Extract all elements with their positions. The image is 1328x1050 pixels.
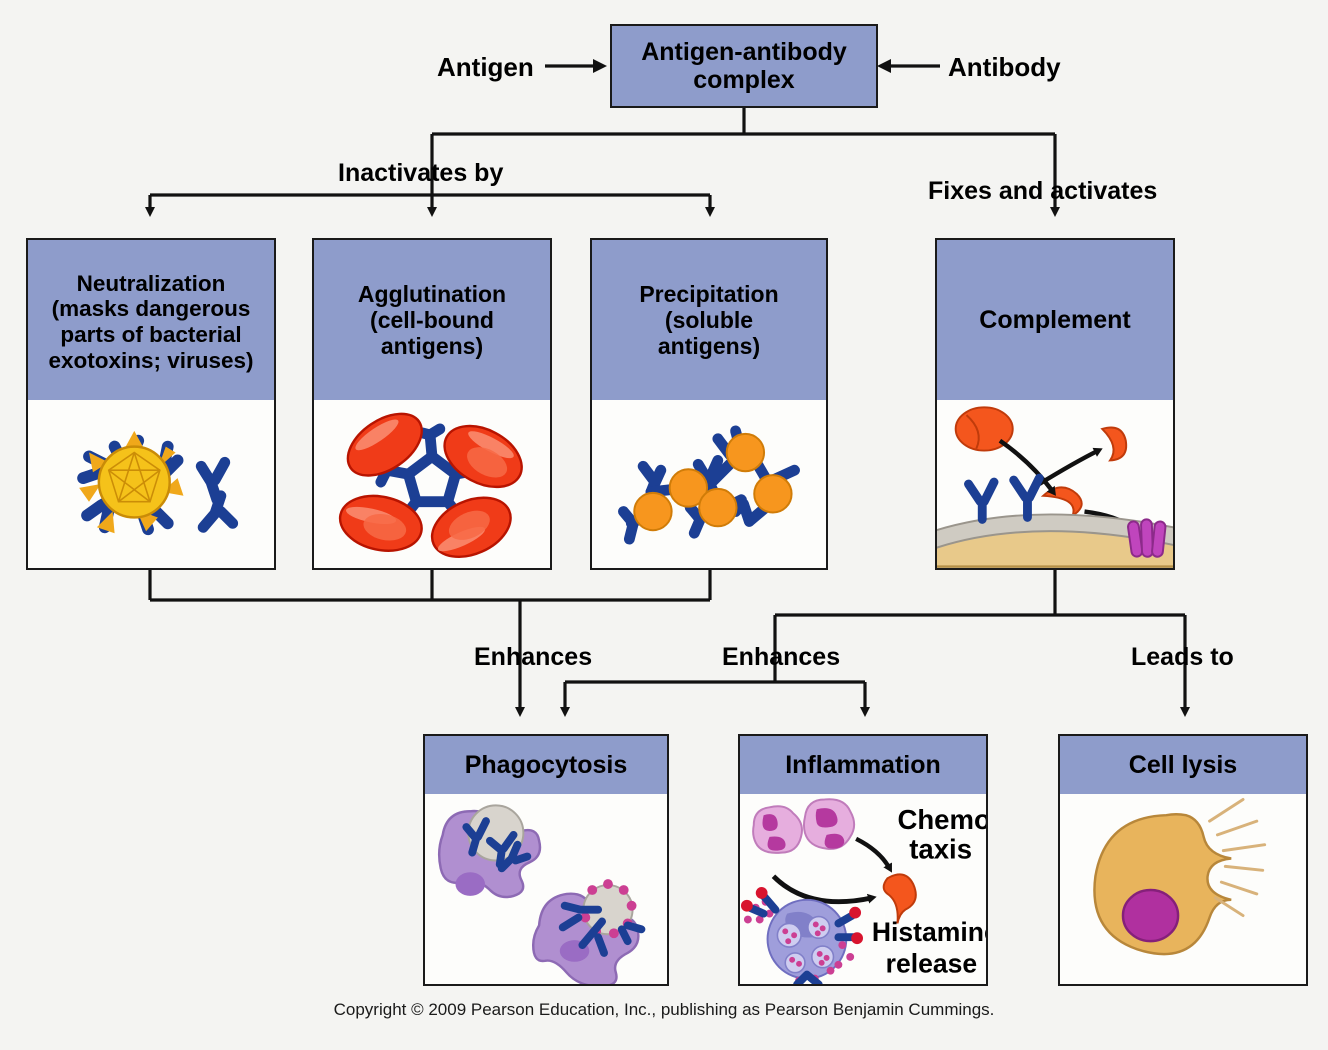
agglutination-box[interactable]: Agglutination (cell-bound antigens) (312, 238, 552, 570)
complement-activation-membrane-attack-icon (937, 400, 1173, 568)
enhances-left-label: Enhances (474, 643, 592, 672)
complement-illustration (937, 400, 1173, 568)
antigen-antibody-lattice-icon (592, 400, 826, 568)
enhances-right-label: Enhances (722, 643, 840, 672)
diagram-canvas: Antigen Antibody Antigen-antibody comple… (0, 0, 1328, 1050)
leads-to-label: Leads to (1131, 643, 1234, 672)
phagocytosis-title: Phagocytosis (425, 736, 667, 794)
fixes-and-activates-label: Fixes and activates (928, 177, 1157, 206)
title-line-1: Neutralization (77, 271, 226, 297)
title-line-1: Precipitation (639, 281, 778, 307)
complement-title: Complement (937, 240, 1173, 400)
title-line-1: Agglutination (358, 281, 506, 307)
precipitation-box[interactable]: Precipitation (soluble antigens) (590, 238, 828, 570)
mast-cell-histamine-chemotaxis-icon: Chemo- taxis Histamine release (740, 794, 986, 984)
copyright-notice: Copyright © 2009 Pearson Education, Inc.… (0, 1000, 1328, 1020)
inflammation-title: Inflammation (740, 736, 986, 794)
histamine-label-line2: release (886, 949, 978, 979)
title-line-2: (soluble (665, 307, 753, 333)
title-line-1: Complement (979, 306, 1130, 335)
title-line-2: (cell-bound (370, 307, 494, 333)
phagocytosis-box[interactable]: Phagocytosis (423, 734, 669, 986)
phagocytosis-illustration (425, 794, 667, 984)
title-line-2: complex (693, 66, 794, 95)
title-line-3: parts of bacterial (60, 322, 241, 348)
title-line-4: exotoxins; viruses) (48, 348, 253, 374)
title-line-1: Cell lysis (1129, 751, 1237, 780)
chemotaxis-label-line1: Chemo- (897, 804, 986, 835)
cell-lysis-title: Cell lysis (1060, 736, 1306, 794)
cell-lysis-box[interactable]: Cell lysis (1058, 734, 1308, 986)
lysing-cell-icon (1060, 794, 1306, 984)
precipitation-illustration (592, 400, 826, 568)
histamine-label-line1: Histamine (872, 917, 986, 947)
neutralization-illustration (28, 400, 274, 568)
antigen-antibody-complex-title: Antigen-antibody complex (612, 26, 876, 106)
inflammation-box[interactable]: Inflammation (738, 734, 988, 986)
virus-with-antibodies-icon (28, 400, 274, 568)
cell-lysis-illustration (1060, 794, 1306, 984)
inflammation-illustration: Chemo- taxis Histamine release (740, 794, 986, 984)
title-line-3: antigens) (658, 333, 760, 359)
inactivates-by-label: Inactivates by (338, 159, 503, 188)
precipitation-title: Precipitation (soluble antigens) (592, 240, 826, 400)
antibody-label: Antibody (948, 52, 1061, 83)
title-line-1: Antigen-antibody (641, 38, 847, 67)
agglutination-title: Agglutination (cell-bound antigens) (314, 240, 550, 400)
red-blood-cells-agglutinated-icon (314, 400, 550, 568)
title-line-2: (masks dangerous (52, 296, 251, 322)
macrophages-engulfing-opsonized-particles-icon (425, 794, 667, 984)
agglutination-illustration (314, 400, 550, 568)
complement-box[interactable]: Complement (935, 238, 1175, 570)
antigen-label: Antigen (437, 52, 534, 83)
chemotaxis-label-line2: taxis (909, 833, 972, 864)
title-line-1: Inflammation (785, 751, 941, 780)
neutralization-title: Neutralization (masks dangerous parts of… (28, 240, 274, 400)
title-line-1: Phagocytosis (465, 751, 628, 780)
neutralization-box[interactable]: Neutralization (masks dangerous parts of… (26, 238, 276, 570)
antigen-antibody-complex-box[interactable]: Antigen-antibody complex (610, 24, 878, 108)
title-line-3: antigens) (381, 333, 483, 359)
